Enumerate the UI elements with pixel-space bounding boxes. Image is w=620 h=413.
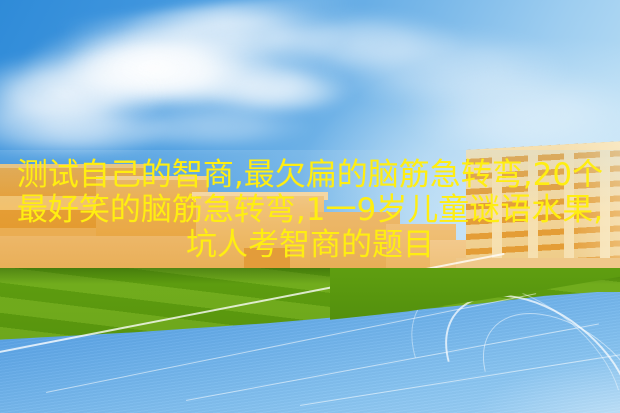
page-title: 测试自己的智商,最欠扁的脑筋急转弯,20个最好笑的脑筋急转弯,1一9岁儿童谜语水… — [0, 158, 620, 263]
track-sheen — [330, 330, 620, 413]
cloud — [208, 70, 358, 116]
title-overlay: 测试自己的智商,最欠扁的脑筋急转弯,20个最好笑的脑筋急转弯,1一9岁儿童谜语水… — [0, 158, 620, 263]
banner-image: 测试自己的智商,最欠扁的脑筋急转弯,20个最好笑的脑筋急转弯,1一9岁儿童谜语水… — [0, 0, 620, 413]
